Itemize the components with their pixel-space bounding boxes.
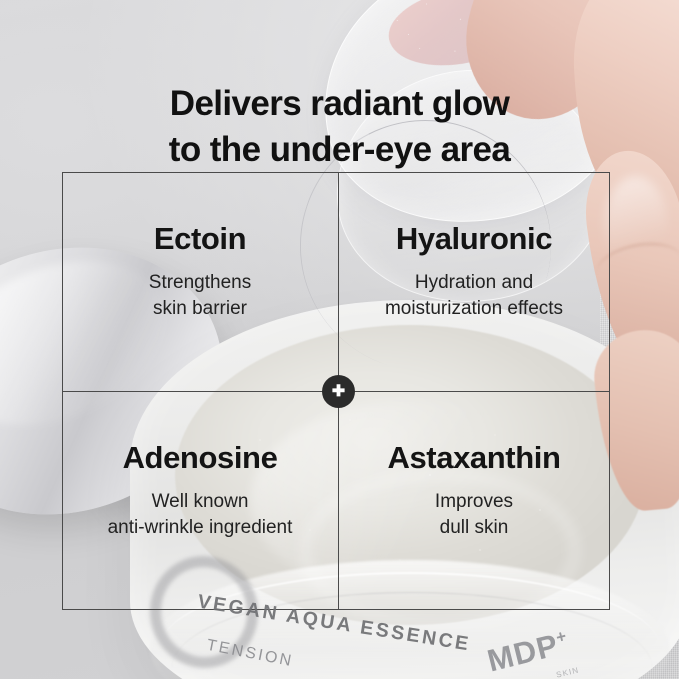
ingredient-title: Adenosine [62, 441, 338, 475]
ingredient-desc-line-1: Well known [62, 489, 338, 514]
ingredient-description: Strengthens skin barrier [62, 270, 338, 321]
ingredient-desc-line-2: moisturization effects [338, 296, 610, 321]
ingredient-desc-line-2: dull skin [338, 515, 610, 540]
ingredient-title: Hyaluronic [338, 222, 610, 256]
ingredient-description: Improves dull skin [338, 489, 610, 540]
ingredient-description: Hydration and moisturization effects [338, 270, 610, 321]
plus-icon [322, 375, 355, 408]
ingredient-title: Astaxanthin [338, 441, 610, 475]
ingredient-cell-astaxanthin: Astaxanthin Improves dull skin [338, 441, 610, 540]
ingredient-desc-line-2: skin barrier [62, 296, 338, 321]
ingredient-description: Well known anti-wrinkle ingredient [62, 489, 338, 540]
ingredient-cell-ectoin: Ectoin Strengthens skin barrier [62, 222, 338, 321]
ingredient-cell-hyaluronic: Hyaluronic Hydration and moisturization … [338, 222, 610, 321]
headline: Delivers radiant glow to the under-eye a… [0, 81, 679, 172]
ingredient-desc-line-2: anti-wrinkle ingredient [62, 515, 338, 540]
ingredient-desc-line-1: Improves [338, 489, 610, 514]
headline-line-1: Delivers radiant glow [0, 81, 679, 127]
ingredient-cell-adenosine: Adenosine Well known anti-wrinkle ingred… [62, 441, 338, 540]
ingredient-title: Ectoin [62, 222, 338, 256]
ingredient-desc-line-1: Hydration and [338, 270, 610, 295]
product-infographic: Delivers radiant glow to the under-eye a… [0, 0, 679, 679]
headline-line-2: to the under-eye area [0, 127, 679, 173]
ingredient-desc-line-1: Strengthens [62, 270, 338, 295]
